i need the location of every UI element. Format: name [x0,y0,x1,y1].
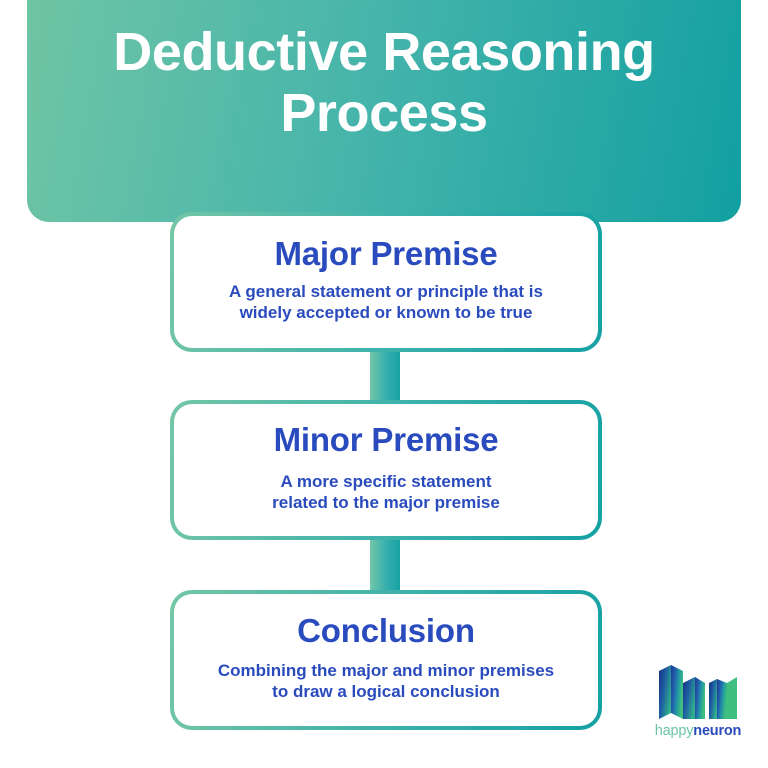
brand-wordmark: happyneuron [655,723,741,739]
infographic-canvas: Deductive Reasoning Process Major Premis… [0,0,768,768]
step-description: A general statement or principle that is… [229,281,543,325]
happyneuron-monogram-icon [657,663,739,719]
step-description: A more specific statement related to the… [272,471,500,515]
step-title: Conclusion [297,613,475,650]
step-card-conclusion: Conclusion Combining the major and minor… [170,590,602,730]
wordmark-neuron: neuron [693,723,741,739]
step-description: Combining the major and minor premises t… [218,660,554,704]
wordmark-happy: happy [655,723,694,739]
step-title: Minor Premise [274,422,499,459]
step-card-minor-premise: Minor Premise A more specific statement … [170,400,602,540]
process-flow: Major Premise A general statement or pri… [0,0,768,768]
brand-logo: happyneuron [648,663,748,751]
step-card-major-premise: Major Premise A general statement or pri… [170,212,602,352]
step-title: Major Premise [274,236,497,273]
